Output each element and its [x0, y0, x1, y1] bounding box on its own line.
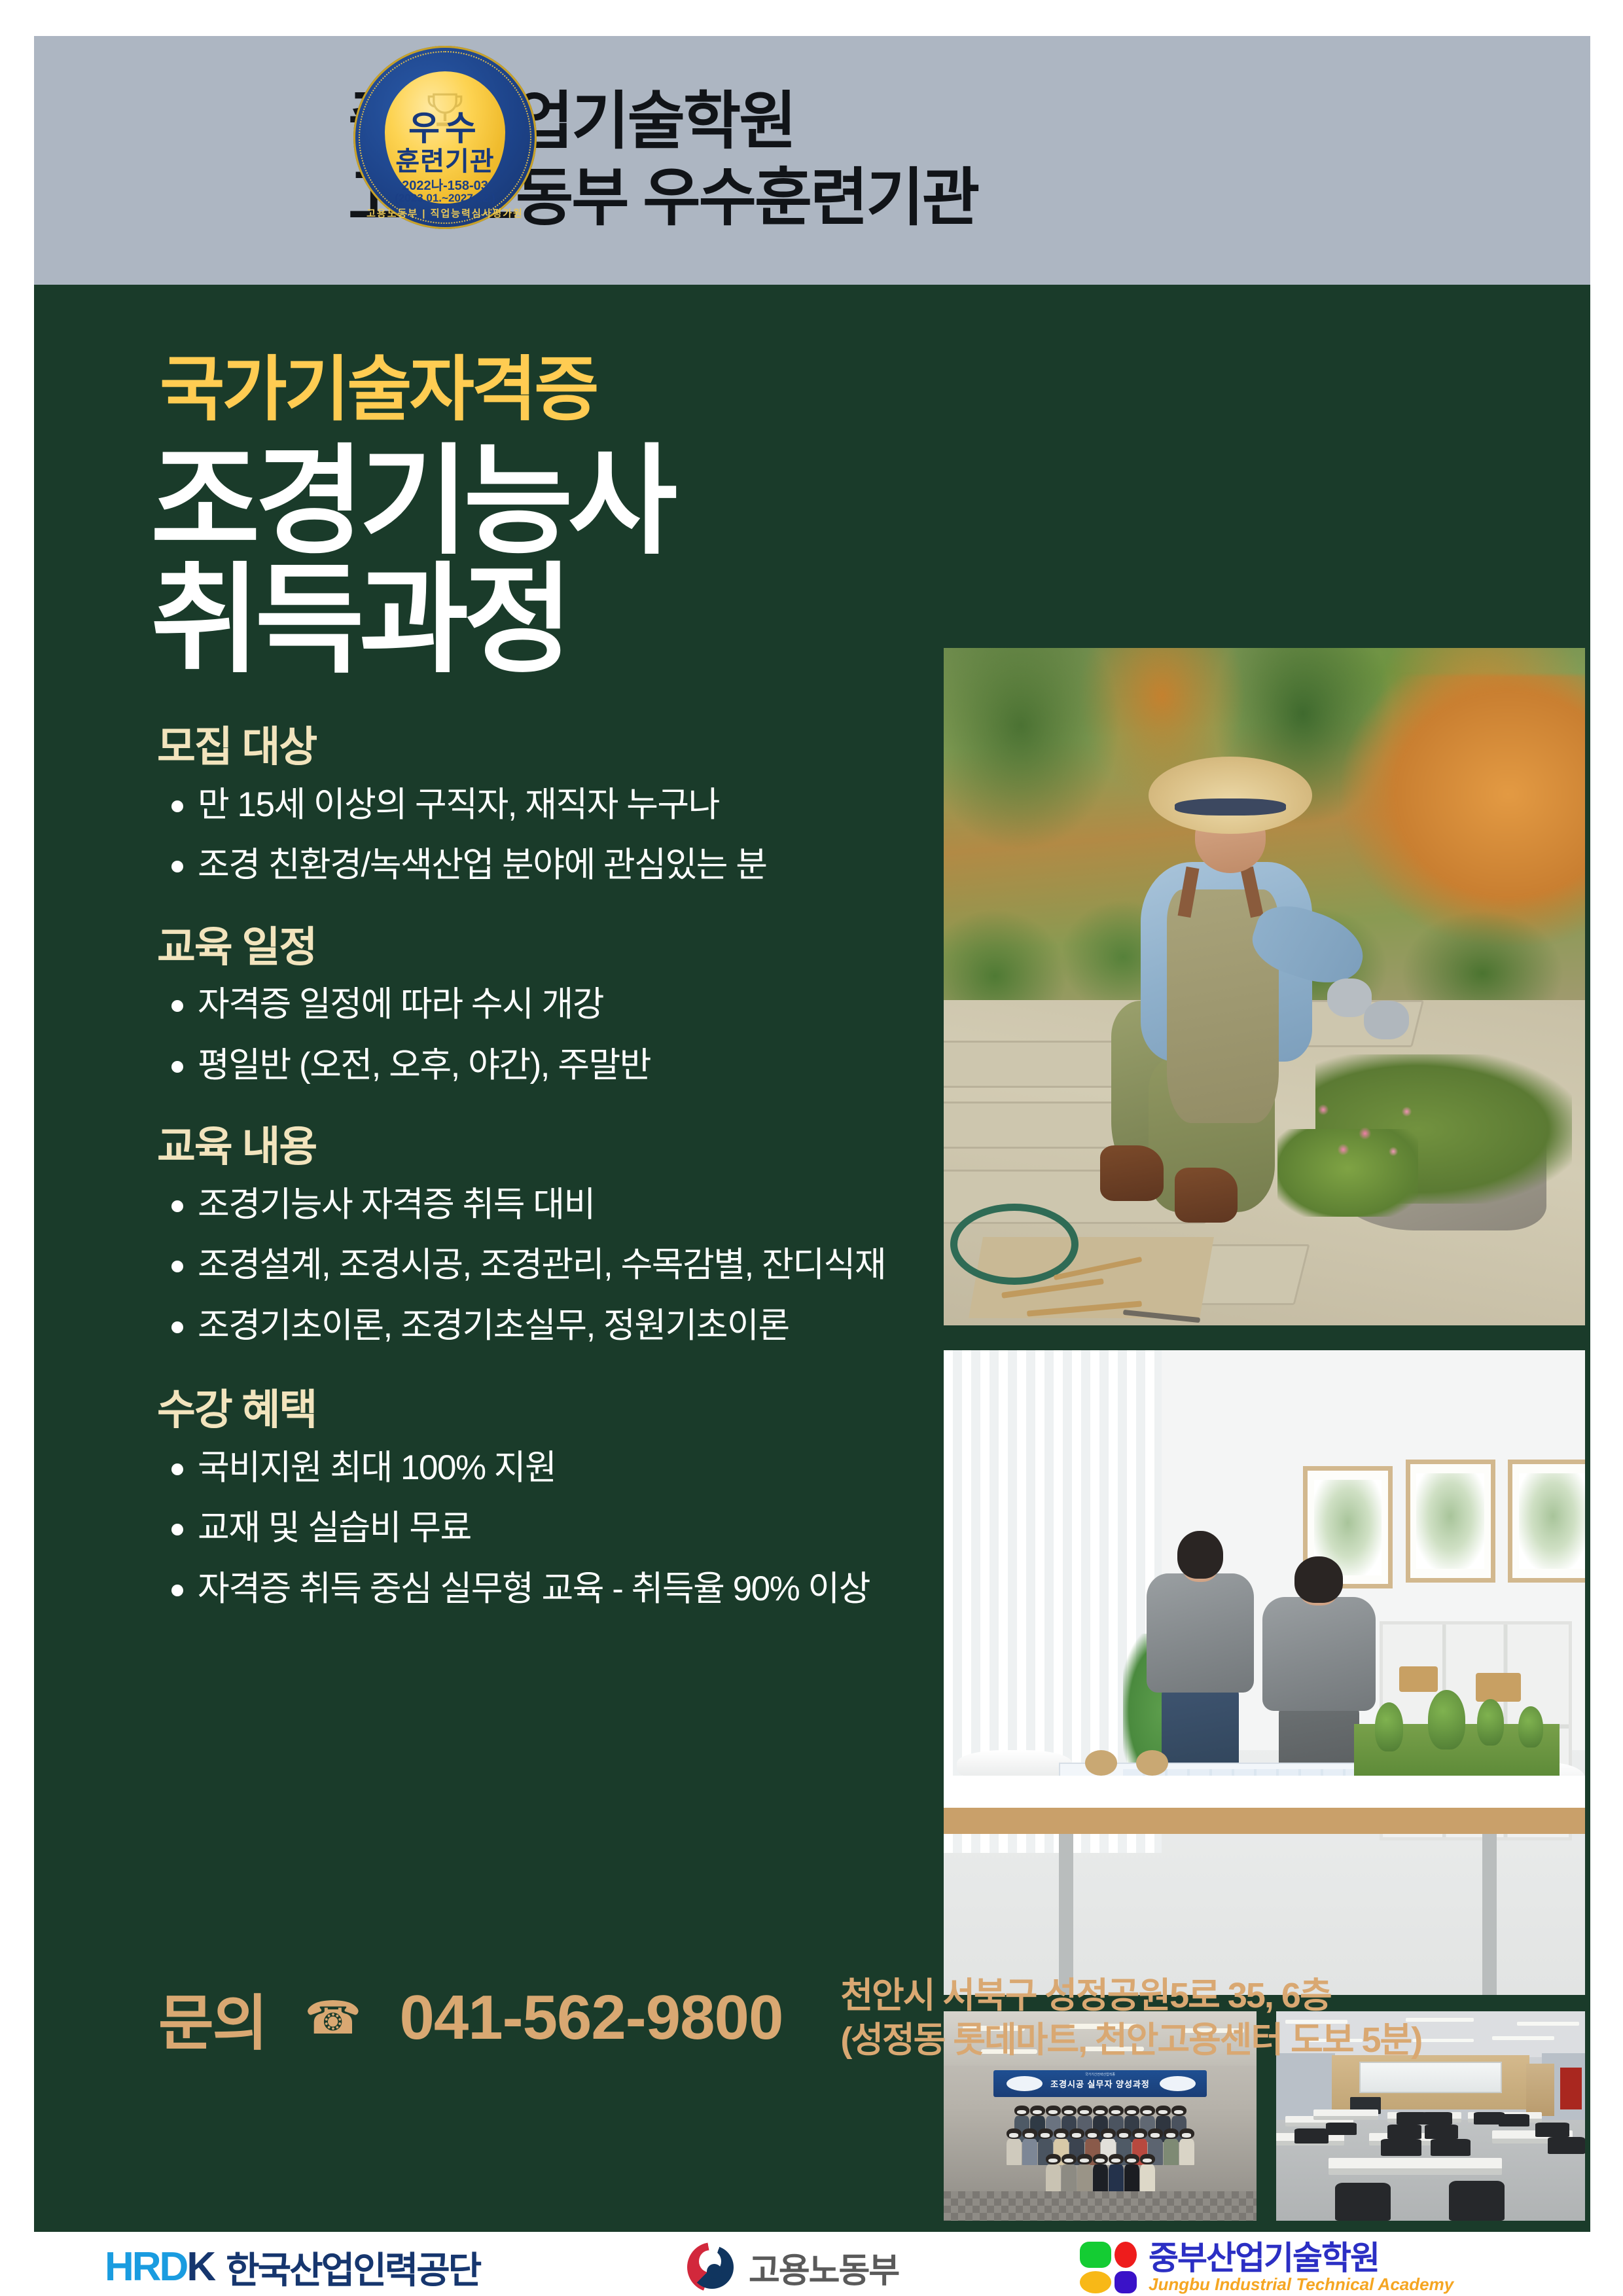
event-banner: 국가기간전략산업직종 조경시공 실무자 양성과정	[993, 2070, 1206, 2098]
section-schedule: 교육 일정 자격증 일정에 따라 수시 개강 평일반 (오전, 오후, 야간),…	[157, 924, 937, 1086]
contact-phone-number[interactable]: 041-562-9800	[399, 1982, 783, 2054]
contact-row: 문의 ☎ 041-562-9800 천안시 서북구 성정공원5로 35, 6층 …	[158, 1973, 1565, 2062]
poster-header: 중부산업기술학원 고용노동부 우수훈련기관	[34, 36, 1590, 285]
bullet-dot-icon	[171, 1061, 183, 1073]
section-bullet-list: 조경기능사 자격증 취득 대비 조경설계, 조경시공, 조경관리, 수목감별, …	[157, 1185, 937, 1347]
seal-line-2: 훈련기관	[353, 149, 537, 175]
bullet-dot-icon	[171, 1463, 183, 1475]
section-curriculum: 교육 내용 조경기능사 자격증 취득 대비 조경설계, 조경시공, 조경관리, …	[157, 1124, 937, 1346]
list-item-label: 조경설계, 조경시공, 조경관리, 수목감별, 잔디식재	[198, 1245, 885, 1286]
jungbu-label-en: Jungbu Industrial Technical Academy	[1149, 2276, 1454, 2293]
list-item-label: 자격증 일정에 따라 수시 개강	[198, 984, 603, 1026]
bullet-dot-icon	[171, 1200, 183, 1212]
list-item-label: 자격증 취득 중심 실무형 교육 - 취득율 90% 이상	[198, 1569, 870, 1610]
telephone-icon: ☎	[304, 1995, 361, 2041]
list-item: 조경설계, 조경시공, 조경관리, 수목감별, 잔디식재	[171, 1245, 937, 1286]
list-item-label: 조경 친환경/녹색산업 분야에 관심있는 분	[198, 845, 767, 886]
event-banner-title: 조경시공 실무자 양성과정	[1050, 2077, 1150, 2090]
taeguk-icon	[687, 2242, 737, 2292]
section-heading: 모집 대상	[157, 724, 937, 770]
list-item-label: 만 15세 이상의 구직자, 재직자 누구나	[198, 785, 719, 826]
molab-label: 고용노동부	[749, 2243, 899, 2292]
address-line-2: (성정동 롯데마트, 천안고용센터 도보 5분)	[840, 2018, 1421, 2062]
section-recruitment-target: 모집 대상 만 15세 이상의 구직자, 재직자 누구나 조경 친환경/녹색산업…	[157, 724, 937, 886]
excellent-training-institution-seal: 우수 훈련기관 2022나-158-03 (2023.01.~2027.12.)…	[353, 46, 537, 229]
gardener-figure	[1059, 757, 1431, 1312]
bullet-dot-icon	[171, 1585, 183, 1596]
bullet-dot-icon	[171, 1321, 183, 1333]
academy-emblem-icon	[1160, 2076, 1196, 2091]
bullet-dot-icon	[171, 1000, 183, 1012]
list-item-label: 교재 및 실습비 무료	[198, 1508, 471, 1549]
bullet-dot-icon	[171, 800, 183, 812]
address-line-1: 천안시 서북구 성정공원5로 35, 6층	[840, 1973, 1421, 2018]
section-bullet-list: 국비지원 최대 100% 지원 교재 및 실습비 무료 자격증 취득 중심 실무…	[157, 1448, 937, 1610]
list-item: 국비지원 최대 100% 지원	[171, 1448, 937, 1489]
bullet-dot-icon	[171, 861, 183, 872]
hrdk-label: 한국산업인력공단	[226, 2241, 480, 2294]
section-heading: 교육 일정	[157, 924, 937, 970]
poster-root: 중부산업기술학원 고용노동부 우수훈련기관 우수 훈련기관 2022나-158-…	[0, 0, 1623, 2296]
jungbu-text-block: 중부산업기술학원 Jungbu Industrial Technical Aca…	[1149, 2242, 1454, 2293]
contact-address: 천안시 서북구 성정공원5로 35, 6층 (성정동 롯데마트, 천안고용센터 …	[840, 1973, 1421, 2062]
seal-issuer: 고용노동부 | 직업능력심사평가원	[353, 206, 537, 220]
bullet-dot-icon	[171, 1524, 183, 1535]
poster-body: 국가기술자격증 조경기능사 취득과정 모집 대상 만 15세 이상의 구직자, …	[34, 285, 1590, 2232]
logo-jungbu-academy: 중부산업기술학원 Jungbu Industrial Technical Aca…	[1080, 2242, 1454, 2293]
bullet-dot-icon	[171, 1261, 183, 1272]
hrdk-mark-primary: HRD	[105, 2244, 187, 2289]
seal-valid-period: (2023.01.~2027.12.)	[353, 192, 537, 205]
four-dots-icon	[1080, 2242, 1137, 2293]
list-item: 자격증 취득 중심 실무형 교육 - 취득율 90% 이상	[171, 1569, 937, 1610]
hero-title-line-1: 조경기능사	[151, 440, 937, 564]
list-item-label: 평일반 (오전, 오후, 야간), 주말반	[198, 1045, 651, 1086]
list-item: 조경기초이론, 조경기초실무, 정원기초이론	[171, 1306, 937, 1347]
list-item: 교재 및 실습비 무료	[171, 1508, 937, 1549]
hrdk-wordmark-icon: HRDK	[105, 2247, 214, 2287]
list-item-label: 조경기초이론, 조경기초실무, 정원기초이론	[198, 1306, 789, 1347]
hero-title-line-2: 취득과정	[151, 558, 937, 682]
jungbu-label-ko: 중부산업기술학원	[1149, 2242, 1454, 2274]
list-item: 만 15세 이상의 구직자, 재직자 누구나	[171, 785, 937, 826]
section-bullet-list: 자격증 일정에 따라 수시 개강 평일반 (오전, 오후, 야간), 주말반	[157, 984, 937, 1086]
list-item: 평일반 (오전, 오후, 야간), 주말반	[171, 1045, 937, 1086]
logo-ministry-of-employment-and-labor: 고용노동부	[687, 2242, 899, 2292]
photo-garden-landscaper	[944, 648, 1585, 1325]
list-item-label: 국비지원 최대 100% 지원	[198, 1448, 556, 1489]
list-item-label: 조경기능사 자격증 취득 대비	[198, 1185, 595, 1226]
left-content-column: 국가기술자격증 조경기능사 취득과정 모집 대상 만 15세 이상의 구직자, …	[126, 350, 937, 1629]
logo-hrdk: HRDK 한국산업인력공단	[105, 2241, 480, 2294]
hrdk-mark-secondary: K	[187, 2244, 214, 2289]
contact-label: 문의	[158, 1975, 266, 2062]
seal-line-1: 우수	[353, 112, 537, 146]
photo-design-studio	[944, 1350, 1585, 1995]
section-benefits: 수강 혜택 국비지원 최대 100% 지원 교재 및 실습비 무료 자격증 취득…	[157, 1387, 937, 1609]
list-item: 조경 친환경/녹색산업 분야에 관심있는 분	[171, 845, 937, 886]
section-heading: 교육 내용	[157, 1124, 937, 1170]
list-item: 조경기능사 자격증 취득 대비	[171, 1185, 937, 1226]
section-heading: 수강 혜택	[157, 1387, 937, 1433]
gov-emblem-icon	[1007, 2076, 1043, 2091]
poster-footer: HRDK 한국산업인력공단 고용노동부 중부산업기술학원 Jungbu Indu…	[0, 2238, 1623, 2296]
section-bullet-list: 만 15세 이상의 구직자, 재직자 누구나 조경 친환경/녹색산업 분야에 관…	[157, 785, 937, 886]
hero-kicker: 국가기술자격증	[160, 350, 937, 429]
list-item: 자격증 일정에 따라 수시 개강	[171, 984, 937, 1026]
